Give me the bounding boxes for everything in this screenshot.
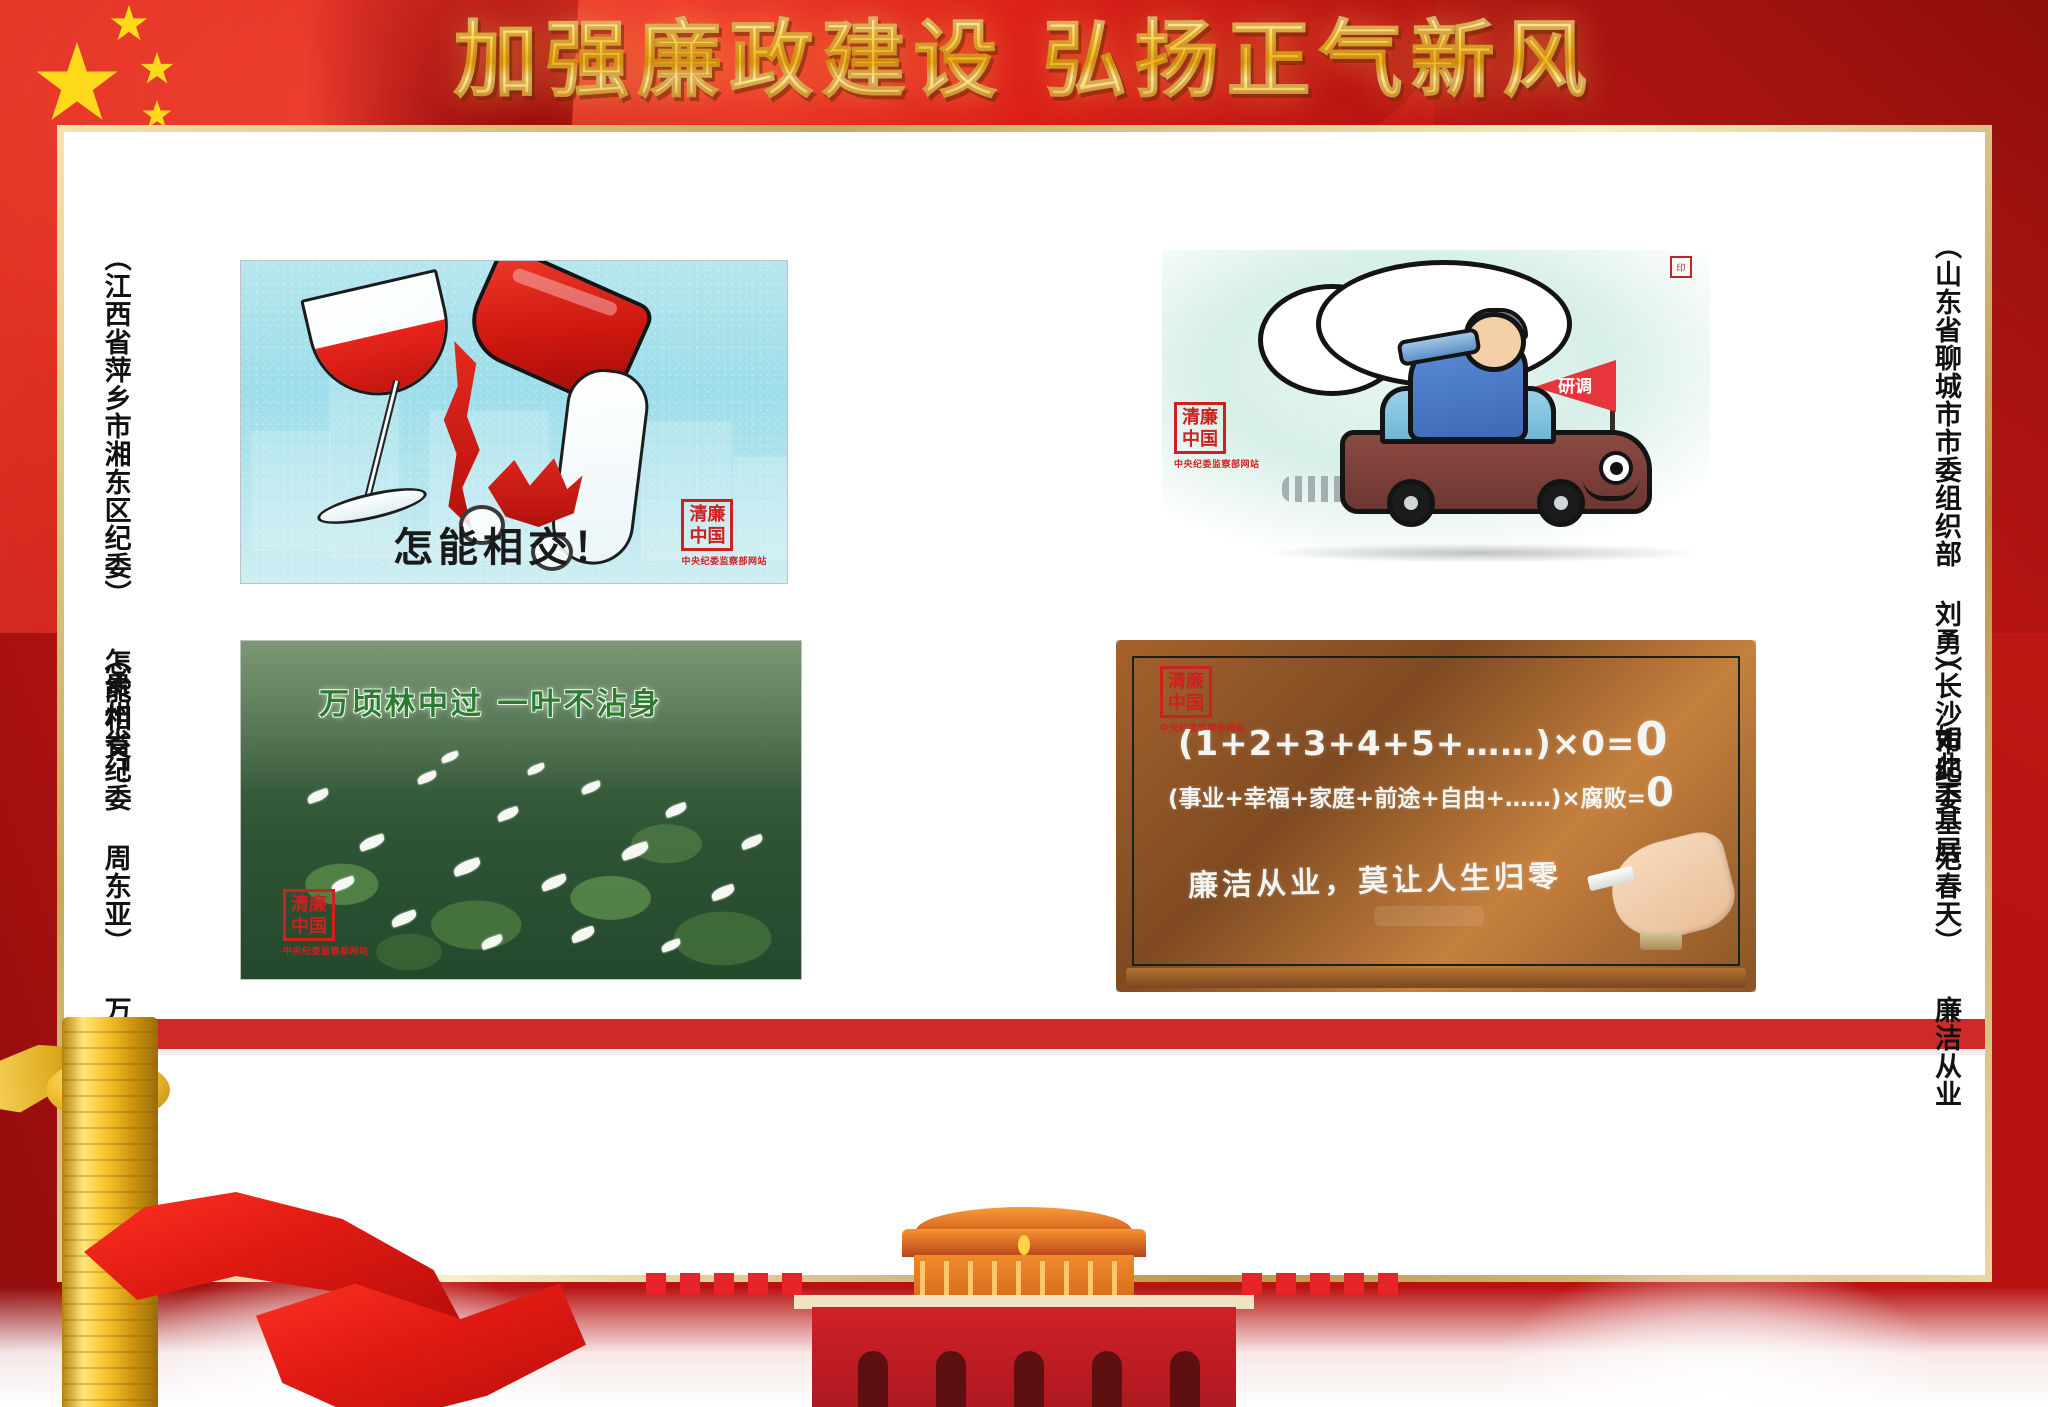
seal-box: 清廉 中国	[1160, 666, 1212, 718]
seal-stamp: 清廉 中国 中央纪委监察部网站	[283, 889, 369, 957]
wine-artwork-title: 怎能相交！	[393, 515, 618, 573]
seal-line-1: 清廉	[1163, 671, 1209, 693]
artwork-grid: 怎能相交！ 清廉 中国 中央纪委监察部网站 （江西省萍乡市湘东区纪委） 怎能相交…	[64, 132, 1985, 1275]
car-wheel-rear	[1537, 479, 1585, 527]
seal-stamp: 清廉 中国 中央纪委监察部网站	[681, 499, 767, 567]
caption-source-wine: （江西省萍乡市湘东区纪委）	[100, 244, 131, 608]
artist-red-mark: 印	[1670, 256, 1692, 278]
seal-line-2: 中国	[684, 526, 730, 548]
seal-caption: 中央纪委监察部网站	[681, 554, 767, 567]
artwork-survey-car[interactable]: 研调 印 清廉 中国 中央纪委监	[1162, 250, 1710, 584]
equation-1-result: 0	[1635, 712, 1668, 766]
white-panel: 怎能相交！ 清廉 中国 中央纪委监察部网站 （江西省萍乡市湘东区纪委） 怎能相交…	[64, 132, 1985, 1275]
equation-2-result: 0	[1646, 770, 1674, 816]
poster-title-bar: 加强廉政建设 弘扬正气新风	[0, 8, 2048, 118]
writing-hand	[1602, 827, 1742, 949]
seal-box: 清廉 中国	[681, 499, 733, 551]
caption-source-blackboard: （长沙市纪委 范春天）	[1930, 644, 1961, 956]
blackboard-equation-1: (1+2+3+4+5+……)×0=0	[1178, 712, 1668, 766]
seal-line-1: 清廉	[684, 504, 730, 526]
blackboard-surface: 清廉 中国 中央纪委监察部网站 (1+2+3+4+5+……)×0=0 (事业+幸…	[1132, 656, 1740, 966]
blackboard-chalk-tray	[1126, 968, 1746, 988]
caption-wine-glass: （江西省萍乡市湘东区纪委） 怎能相交！	[100, 244, 129, 664]
seal-caption: 中央纪委监察部网站	[1174, 457, 1260, 470]
artwork-egret-forest[interactable]: 万顷林中过 一叶不沾身 清廉 中国 中央纪委监察部网站	[240, 640, 802, 980]
chalk-smudge	[1374, 906, 1484, 926]
survey-flag-label: 研调	[1558, 372, 1620, 397]
seal-box: 清廉 中国	[1174, 402, 1226, 454]
car-grin	[1583, 479, 1639, 501]
caption-title-blackboard: 廉洁从业	[1930, 996, 1961, 1108]
equation-2-expression: (事业+幸福+家庭+前途+自由+……)×腐败=	[1168, 786, 1646, 812]
content-frame: 怎能相交！ 清廉 中国 中央纪委监察部网站 （江西省萍乡市湘东区纪委） 怎能相交…	[57, 125, 1992, 1282]
blackboard-equation-2: (事业+幸福+家庭+前途+自由+……)×腐败=0	[1168, 770, 1674, 816]
caption-title-forest: 万顷林中过 一叶不沾身	[100, 996, 131, 1275]
caption-blackboard: （长沙市纪委 范春天） 廉洁从业	[1930, 644, 1959, 1064]
road-shadow	[1272, 544, 1692, 562]
seal-stamp: 清廉 中国 中央纪委监察部网站	[1174, 402, 1260, 470]
seal-line-1: 清廉	[286, 894, 332, 916]
caption-survey-car: （山东省聊城市市委组织部 刘勇） 如此下基层	[1930, 232, 1959, 672]
artwork-blackboard[interactable]: 清廉 中国 中央纪委监察部网站 (1+2+3+4+5+……)×0=0 (事业+幸…	[1116, 640, 1756, 992]
seal-line-2: 中国	[286, 916, 332, 938]
seal-box: 清廉 中国	[283, 889, 335, 941]
caption-source-forest: （贵州省纪委 周东亚）	[100, 644, 131, 956]
seal-caption: 中央纪委监察部网站	[283, 944, 369, 957]
page-title: 加强廉政建设 弘扬正气新风	[453, 8, 1594, 112]
equation-1-expression: (1+2+3+4+5+……)×0=	[1178, 724, 1635, 764]
artwork-wine-glass[interactable]: 怎能相交！ 清廉 中国 中央纪委监察部网站	[240, 260, 788, 584]
seal-line-1: 清廉	[1177, 407, 1223, 429]
caption-egret-forest: （贵州省纪委 周东亚） 万顷林中过 一叶不沾身	[100, 644, 129, 1064]
blackboard-eraser	[1640, 932, 1682, 950]
forest-artwork-title: 万顷林中过 一叶不沾身	[319, 679, 662, 723]
seal-line-2: 中国	[1177, 429, 1223, 451]
caption-source-car: （山东省聊城市市委组织部 刘勇）	[1930, 232, 1961, 684]
blackboard-slogan: 廉洁从业，莫让人生归零	[1187, 851, 1562, 905]
car-wheel-front	[1387, 479, 1435, 527]
